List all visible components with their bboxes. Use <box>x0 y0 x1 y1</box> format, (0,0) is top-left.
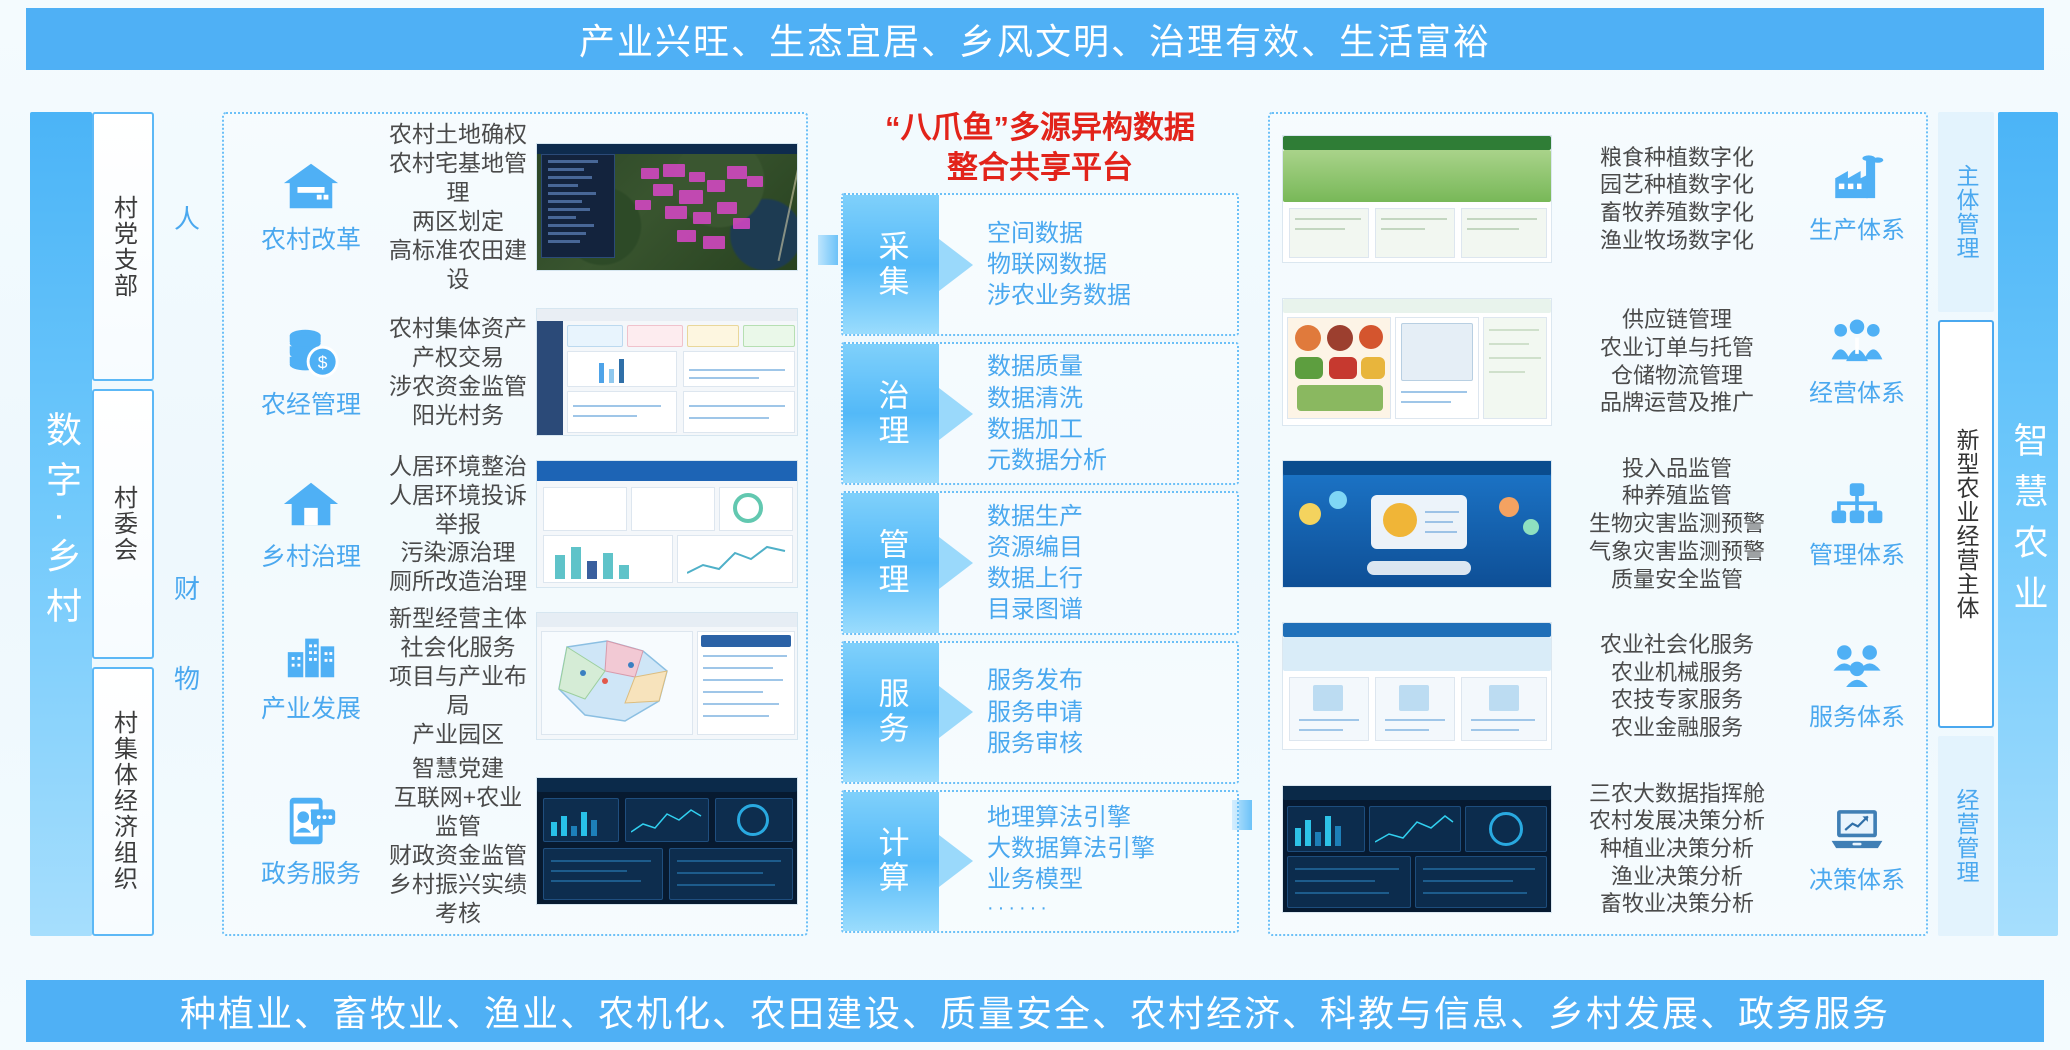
system-items: 供应链管理 农业订单与托管 仓储物流管理 品牌运营及推广 <box>1560 306 1794 417</box>
category-icon-group: 政务服务 <box>236 792 386 890</box>
system-row-production[interactable]: 粮食种植数字化 园艺种植数字化 畜牧养殖数字化 渔业牧场数字化 生产体系 <box>1560 118 1920 280</box>
org-box-collective-economic-org[interactable]: 村集体经济组织 <box>92 667 154 936</box>
platform-title: “八爪鱼”多源异构数据 整合共享平台 <box>838 108 1242 187</box>
system-row-service[interactable]: 农业社会化服务 农业机械服务 农技专家服务 农业金融服务 服务体系 <box>1560 605 1920 767</box>
platform-title-line1: “八爪鱼”多源异构数据 <box>838 108 1242 148</box>
org-box-label: 村委会 <box>106 485 141 563</box>
category-label: 产业发展 <box>261 689 361 725</box>
system-icon-group: 管理体系 <box>1794 478 1920 570</box>
stage-items: 空间数据 物联网数据 涉农业务数据 <box>939 218 1237 312</box>
stage-label: 治理 <box>869 379 914 449</box>
buildings-icon <box>280 627 342 685</box>
factory-icon <box>1828 153 1886 207</box>
resource-axis-column: 人 财 物 <box>158 112 216 936</box>
industry-map-screenshot[interactable] <box>536 612 798 740</box>
stage-items-ellipsis: ······ <box>987 895 1237 921</box>
stage-tab: 服务 <box>843 643 939 782</box>
bigdata-cockpit-screenshot[interactable] <box>1282 785 1552 913</box>
footer-banner: 种植业、畜牧业、渔业、农机化、农田建设、质量安全、农村经济、科教与信息、乡村发展… <box>26 980 2044 1042</box>
stage-tab: 计算 <box>843 792 939 931</box>
system-icon-group: 决策体系 <box>1794 803 1920 895</box>
header-title: 产业兴旺、生态宜居、乡风文明、治理有效、生活富裕 <box>579 13 1491 65</box>
category-screenshot-wrap[interactable] <box>536 143 798 271</box>
platform-stage-list: 采集 空间数据 物联网数据 涉农业务数据 治理 数据质量 数据清洗 数据加工 元… <box>838 190 1242 936</box>
org-box-village-committee[interactable]: 村委会 <box>92 389 154 658</box>
stage-tab: 治理 <box>843 344 939 483</box>
category-screenshot-wrap[interactable] <box>536 777 798 905</box>
cockpit-trend-icon <box>1375 812 1455 848</box>
right-label-text: 主体管理 <box>1949 164 1983 260</box>
stage-arrow-icon <box>939 239 973 291</box>
coins-dollar-icon: $ <box>280 323 342 381</box>
system-icon-group: 生产体系 <box>1794 153 1920 245</box>
category-label: 乡村治理 <box>261 537 361 573</box>
category-label: 政务服务 <box>261 854 361 890</box>
system-list: 粮食种植数字化 园艺种植数字化 畜牧养殖数字化 渔业牧场数字化 生产体系 供应链… <box>1560 118 1920 930</box>
system-label: 服务体系 <box>1809 697 1905 732</box>
laptop-chart-icon <box>1828 803 1886 857</box>
system-label: 管理体系 <box>1809 535 1905 570</box>
stage-items: 服务发布 服务申请 服务审核 <box>939 665 1237 759</box>
house-roof-icon <box>280 158 342 216</box>
category-items: 人居环境整治 人居环境投诉举报 污染源治理 厕所改造治理 <box>386 452 530 597</box>
people-group-icon <box>1828 316 1886 370</box>
stage-tab: 管理 <box>843 493 939 632</box>
category-label: 农村改革 <box>261 220 361 256</box>
stage-arrow-icon <box>939 537 973 589</box>
stage-arrow-icon <box>939 835 973 887</box>
system-items: 粮食种植数字化 园艺种植数字化 畜牧养殖数字化 渔业牧场数字化 <box>1560 144 1794 255</box>
org-chart-icon <box>1828 478 1886 532</box>
system-icon-group: 服务体系 <box>1794 640 1920 732</box>
right-rail: 智慧农业 <box>1998 112 2058 936</box>
stage-collect[interactable]: 采集 空间数据 物联网数据 涉农业务数据 <box>841 193 1239 336</box>
system-label: 决策体系 <box>1809 860 1905 895</box>
system-label: 经营体系 <box>1809 373 1905 408</box>
resource-axis-people: 人 <box>158 172 216 262</box>
right-rail-label: 智慧农业 <box>2003 422 2054 626</box>
food-safety-portal-screenshot[interactable] <box>1282 460 1552 588</box>
resource-axis-finance: 财 <box>158 542 216 632</box>
system-label: 生产体系 <box>1809 210 1905 245</box>
right-label-column: 主体管理 新型农业经营主体 经营管理 <box>1938 112 1994 936</box>
category-row-rural-reform[interactable]: 农村改革 农村土地确权 农村宅基地管理 两区划定 高标准农田建设 <box>232 118 802 296</box>
governance-analytics-screenshot[interactable] <box>536 460 798 588</box>
stage-compute[interactable]: 计算 地理算法引擎 大数据算法引擎 业务模型 ······ <box>841 790 1239 933</box>
stage-label: 采集 <box>869 230 914 300</box>
category-icon-group: 农村改革 <box>236 158 386 256</box>
left-rail-label: 数字·乡村 <box>35 411 87 637</box>
trend-spark-dark <box>631 804 703 838</box>
category-icon-group: 乡村治理 <box>236 475 386 573</box>
system-items: 三农大数据指挥舱 农村发展决策分析 种植业决策分析 渔业决策分析 畜牧业决策分析 <box>1560 780 1794 919</box>
satellite-parcel-map-screenshot[interactable] <box>536 143 798 271</box>
home-icon <box>280 475 342 533</box>
org-column: 村党支部 村委会 村集体经济组织 <box>92 112 154 936</box>
category-screenshot-wrap[interactable] <box>536 308 798 436</box>
right-label-operation-management[interactable]: 经营管理 <box>1938 736 1994 936</box>
footer-title: 种植业、畜牧业、渔业、农机化、农田建设、质量安全、农村经济、科教与信息、乡村发展… <box>180 985 1890 1037</box>
stage-service[interactable]: 服务 服务发布 服务申请 服务审核 <box>841 641 1239 784</box>
stage-label: 管理 <box>869 528 914 598</box>
stage-label: 计算 <box>869 826 914 896</box>
category-items: 新型经营主体 社会化服务 项目与产业布局 产业园区 <box>386 604 530 749</box>
stage-governance[interactable]: 治理 数据质量 数据清洗 数据加工 元数据分析 <box>841 342 1239 485</box>
stage-items: 数据质量 数据清洗 数据加工 元数据分析 <box>939 351 1237 476</box>
agriculture-portal-screenshot[interactable] <box>1282 135 1552 263</box>
system-row-management[interactable]: 投入品监管 种养殖监管 生物灾害监测预警 气象灾害监测预警 质量安全监管 管理体… <box>1560 443 1920 605</box>
category-label: 农经管理 <box>261 385 361 421</box>
command-center-screenshot[interactable] <box>536 777 798 905</box>
category-list: 农村改革 农村土地确权 农村宅基地管理 两区划定 高标准农田建设 <box>232 118 802 930</box>
category-items: 农村集体资产 产权交易 涉农资金监管 阳光村务 <box>386 314 530 430</box>
header-banner: 产业兴旺、生态宜居、乡风文明、治理有效、生活富裕 <box>26 8 2044 70</box>
category-icon-group: $ 农经管理 <box>236 323 386 421</box>
resource-axis-assets: 物 <box>158 632 216 722</box>
region-map-shape <box>547 637 687 729</box>
right-label-subject-management[interactable]: 主体管理 <box>1938 112 1994 312</box>
right-label-text: 经营管理 <box>1949 788 1983 884</box>
category-row-rural-economy[interactable]: $ 农经管理 农村集体资产 产权交易 涉农资金监管 阳光村务 <box>232 296 802 448</box>
platform-title-line2: 整合共享平台 <box>838 148 1242 188</box>
right-label-new-agri-business-entity[interactable]: 新型农业经营主体 <box>1938 320 1994 728</box>
diagram-root: 产业兴旺、生态宜居、乡风文明、治理有效、生活富裕 数字·乡村 村党支部 村委会 … <box>0 0 2070 1050</box>
stage-items-group: 地理算法引擎 大数据算法引擎 业务模型 ······ <box>939 802 1237 922</box>
stage-arrow-icon <box>939 388 973 440</box>
mobile-chat-user-icon <box>280 792 342 850</box>
category-row-industry-development[interactable]: 产业发展 新型经营主体 社会化服务 项目与产业布局 产业园区 <box>232 600 802 752</box>
category-screenshot-wrap[interactable] <box>536 612 798 740</box>
category-row-rural-governance[interactable]: 乡村治理 人居环境整治 人居环境投诉举报 污染源治理 厕所改造治理 <box>232 448 802 600</box>
category-items: 农村土地确权 农村宅基地管理 两区划定 高标准农田建设 <box>386 120 530 294</box>
connector-nub-left <box>818 235 838 265</box>
people-service-icon <box>1828 640 1886 694</box>
stage-label: 服务 <box>869 677 914 747</box>
org-box-label: 村党支部 <box>106 195 141 299</box>
produce-catalog-screenshot[interactable] <box>1282 298 1552 426</box>
category-screenshot-wrap[interactable] <box>536 460 798 588</box>
system-row-decision[interactable]: 三农大数据指挥舱 农村发展决策分析 种植业决策分析 渔业决策分析 畜牧业决策分析… <box>1560 768 1920 930</box>
system-row-operation[interactable]: 供应链管理 农业订单与托管 仓储物流管理 品牌运营及推广 经营体系 <box>1560 280 1920 442</box>
asset-dashboard-screenshot[interactable] <box>536 308 798 436</box>
category-items: 智慧党建 互联网+农业监管 财政资金监管 乡村振兴实绩考核 <box>386 754 530 928</box>
org-box-label: 村集体经济组织 <box>106 710 141 892</box>
stage-arrow-icon <box>939 686 973 738</box>
right-screenshot-column <box>1282 118 1552 930</box>
system-icon-group: 经营体系 <box>1794 316 1920 408</box>
svg-text:$: $ <box>318 352 328 372</box>
left-rail: 数字·乡村 <box>30 112 92 936</box>
stage-tab: 采集 <box>843 195 939 334</box>
stage-management[interactable]: 管理 数据生产 资源编目 数据上行 目录图谱 <box>841 491 1239 634</box>
category-row-government-service[interactable]: 政务服务 智慧党建 互联网+农业监管 财政资金监管 乡村振兴实绩考核 <box>232 752 802 930</box>
category-icon-group: 产业发展 <box>236 627 386 725</box>
stage-items: 数据生产 资源编目 数据上行 目录图谱 <box>939 501 1237 626</box>
system-items: 农业社会化服务 农业机械服务 农技专家服务 农业金融服务 <box>1560 631 1794 742</box>
stage-items: 地理算法引擎 大数据算法引擎 业务模型 <box>987 802 1237 896</box>
trend-spark <box>687 541 787 579</box>
right-label-text: 新型农业经营主体 <box>1949 428 1983 620</box>
system-items: 投入品监管 种养殖监管 生物灾害监测预警 气象灾害监测预警 质量安全监管 <box>1560 455 1794 594</box>
org-box-village-party-branch[interactable]: 村党支部 <box>92 112 154 381</box>
service-platform-screenshot[interactable] <box>1282 622 1552 750</box>
